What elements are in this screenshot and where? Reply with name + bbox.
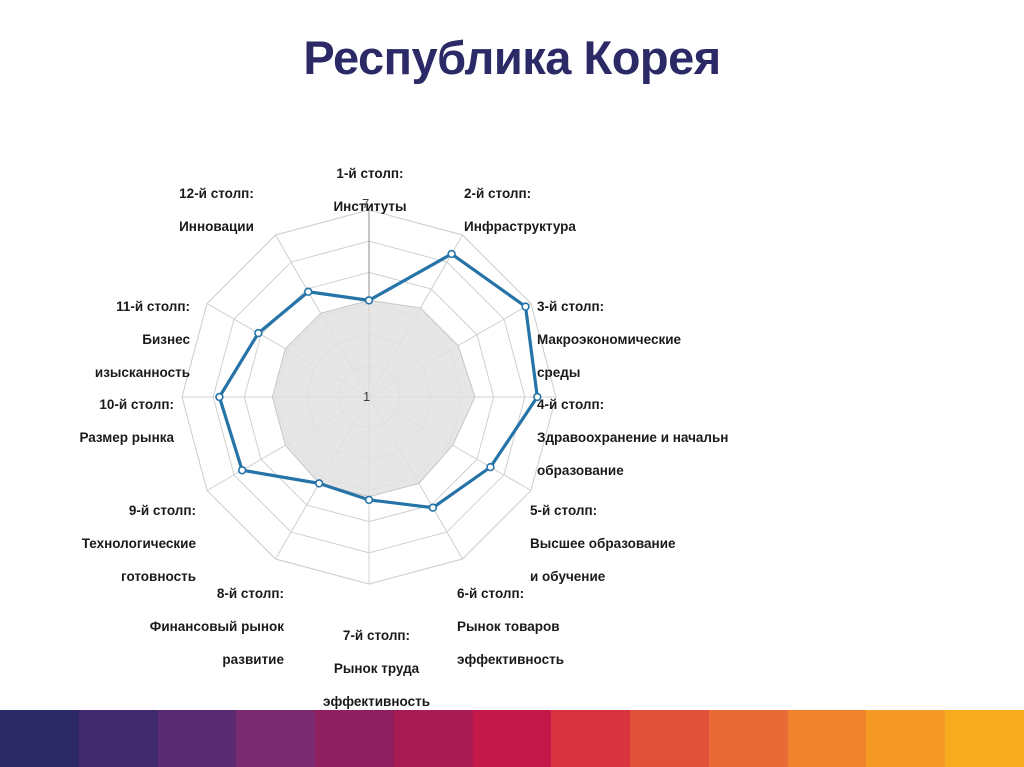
data-point-marker [448, 251, 455, 258]
color-swatch-7 [473, 710, 552, 767]
reference-area-series [272, 300, 475, 496]
data-point-marker [366, 297, 373, 304]
color-swatch-8 [551, 710, 630, 767]
data-point-marker [366, 496, 373, 503]
axis-label-pillar-9-line3: готовность [24, 569, 196, 585]
axis-label-pillar-4-line1: 4-й столп: [537, 397, 782, 413]
axis-label-pillar-11-line3: изысканность [14, 365, 190, 381]
radar-chart: 7 1 1-й столп: Институты 2-й столп: Инфр… [14, 120, 1010, 700]
axis-label-pillar-10-line2: Размер рынка [14, 430, 174, 446]
data-point-marker [255, 330, 262, 337]
axis-label-pillar-9-line1: 9-й столп: [24, 503, 196, 519]
axis-label-pillar-9: 9-й столп: Технологические готовность [24, 487, 196, 602]
color-swatch-11 [788, 710, 867, 767]
axis-label-pillar-6-line3: эффективность [457, 652, 657, 668]
axis-label-pillar-3-line3: среды [537, 365, 787, 381]
axis-label-pillar-6-line1: 6-й столп: [457, 586, 657, 602]
content-card: Республика Корея 7 1 1-й столп: Институт… [14, 0, 1010, 710]
data-point-marker [316, 480, 323, 487]
axis-label-pillar-4-line2: Здравоохранение и начальн [537, 430, 782, 446]
page-title: Республика Корея [14, 32, 1010, 84]
axis-label-pillar-11-line2: Бизнес [14, 332, 190, 348]
data-point-marker [239, 467, 246, 474]
color-swatch-1 [0, 710, 79, 767]
data-point-marker [487, 464, 494, 471]
axis-label-pillar-6: 6-й столп: Рынок товаров эффективность [457, 570, 657, 685]
axis-label-pillar-11: 11-й столп: Бизнес изысканность [14, 283, 190, 398]
axis-label-pillar-8-line2: Финансовый рынок [89, 619, 284, 635]
axis-label-pillar-5-line2: Высшее образование [530, 536, 760, 552]
axis-tick-center: 1 [363, 389, 370, 404]
color-swatch-2 [79, 710, 158, 767]
data-point-marker [429, 504, 436, 511]
slide-root: Республика Корея 7 1 1-й столп: Институт… [0, 0, 1024, 767]
axis-label-pillar-5-line1: 5-й столп: [530, 503, 760, 519]
axis-label-pillar-3-line2: Макроэкономические [537, 332, 787, 348]
data-point-marker [305, 288, 312, 295]
axis-label-pillar-6-line2: Рынок товаров [457, 619, 657, 635]
color-swatch-5 [315, 710, 394, 767]
axis-label-pillar-3-line1: 3-й столп: [537, 299, 787, 315]
color-swatch-6 [394, 710, 473, 767]
color-swatch-3 [158, 710, 237, 767]
color-swatch-13 [945, 710, 1024, 767]
axis-label-pillar-2-line2: Инфраструктура [464, 219, 694, 235]
data-point-marker [216, 394, 223, 401]
axis-label-pillar-4: 4-й столп: Здравоохранение и начальн обр… [537, 381, 782, 496]
footer-color-strip [0, 710, 1024, 767]
color-swatch-9 [630, 710, 709, 767]
color-swatch-4 [236, 710, 315, 767]
color-swatch-12 [866, 710, 945, 767]
color-swatch-10 [709, 710, 788, 767]
axis-label-pillar-7-line2: Рынок труда [294, 661, 459, 677]
reference-area-polygon [272, 300, 475, 496]
axis-label-pillar-4-line3: образование [537, 463, 782, 479]
axis-label-pillar-11-line1: 11-й столп: [14, 299, 190, 315]
axis-label-pillar-9-line2: Технологические [24, 536, 196, 552]
axis-label-pillar-7-line3: эффективность [294, 694, 459, 710]
axis-label-pillar-7-line1: 7-й столп: [294, 628, 459, 644]
axis-label-pillar-12-line2: Инновации [124, 219, 309, 235]
axis-label-pillar-12-line1: 12-й столп: [124, 186, 309, 202]
axis-label-pillar-12: 12-й столп: Инновации [124, 170, 309, 252]
axis-label-pillar-2: 2-й столп: Инфраструктура [464, 170, 694, 252]
axis-label-pillar-2-line1: 2-й столп: [464, 186, 694, 202]
data-point-marker [522, 303, 529, 310]
axis-label-pillar-8-line3: развитие [89, 652, 284, 668]
axis-label-pillar-10-line1: 10-й столп: [14, 397, 174, 413]
